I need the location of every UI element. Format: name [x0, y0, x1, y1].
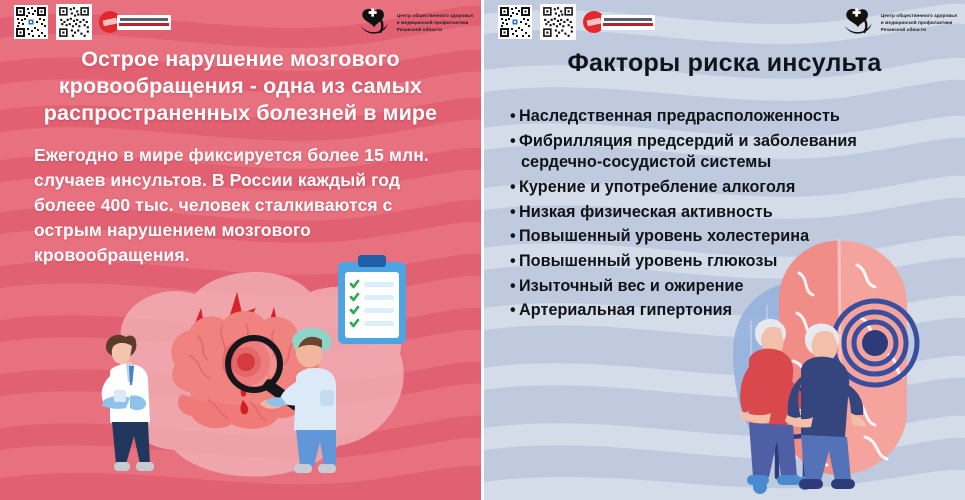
- risk-factor-line1: Изыточный вес и ожирение: [519, 277, 744, 295]
- qr-code-icon-left-2[interactable]: [56, 4, 92, 40]
- qr-code-icon-right-2[interactable]: [540, 4, 576, 40]
- poster-left-header: Центр общественного здоровья и медицинск…: [0, 0, 481, 46]
- list-item: Низкая физическая активность: [510, 202, 951, 224]
- health-center-logo-icon-right: [840, 4, 876, 40]
- list-item: Наследственная предрасположенность: [510, 106, 951, 128]
- hotline-phone-badge-right[interactable]: [583, 10, 655, 34]
- list-item: Повышенный уровень холестерина: [510, 226, 951, 248]
- org-logo-right-text: Центр общественного здоровья и медицинск…: [881, 12, 957, 33]
- list-item: Артериальная гипертония: [510, 300, 951, 322]
- list-item: Повышенный уровень глюкозы: [510, 251, 951, 273]
- stroke-awareness-poster-pair: Центр общественного здоровья и медицинск…: [0, 0, 965, 500]
- risk-factors-list: Наследственная предрасположенность Фибри…: [510, 106, 951, 325]
- hotline-phone-badge[interactable]: [99, 10, 171, 34]
- org-logo-left: Центр общественного здоровья и медицинск…: [356, 4, 473, 40]
- risk-factor-line1: Фибрилляция предсердий и заболевания: [519, 132, 857, 150]
- poster-right-header: Центр общественного здоровья и медицинск…: [484, 0, 965, 46]
- phone-number-strip: [117, 15, 171, 30]
- poster-left-title: Острое нарушение мозгового кровообращени…: [0, 46, 481, 127]
- risk-factor-line2: сердечно-сосудистой системы: [519, 152, 951, 174]
- left-illustration: [70, 250, 481, 500]
- risk-factor-line1: Артериальная гипертония: [519, 301, 732, 319]
- poster-left-body: Ежегодно в мире фиксируется более 15 млн…: [34, 143, 463, 268]
- list-item: Изыточный вес и ожирение: [510, 276, 951, 298]
- qr-code-icon-right-1[interactable]: [498, 5, 532, 39]
- poster-right-title: Факторы риска инсульта: [484, 48, 965, 78]
- phone-number-strip-right: [601, 15, 655, 30]
- health-center-logo-icon: [356, 4, 392, 40]
- risk-factor-line1: Курение и употребление алкоголя: [519, 178, 795, 196]
- risk-factor-line1: Повышенный уровень холестерина: [519, 227, 809, 245]
- list-item: Фибрилляция предсердий и заболевания сер…: [510, 131, 951, 174]
- risk-factor-line1: Повышенный уровень глюкозы: [519, 252, 777, 270]
- risk-factor-line1: Наследственная предрасположенность: [519, 107, 840, 125]
- list-item: Курение и употребление алкоголя: [510, 177, 951, 199]
- poster-right: Центр общественного здоровья и медицинск…: [484, 0, 965, 500]
- risk-factor-line1: Низкая физическая активность: [519, 203, 773, 221]
- org-logo-left-text: Центр общественного здоровья и медицинск…: [397, 12, 473, 33]
- qr-code-icon-left-1[interactable]: [14, 5, 48, 39]
- poster-left: Центр общественного здоровья и медицинск…: [0, 0, 481, 500]
- org-logo-right: Центр общественного здоровья и медицинск…: [840, 4, 957, 40]
